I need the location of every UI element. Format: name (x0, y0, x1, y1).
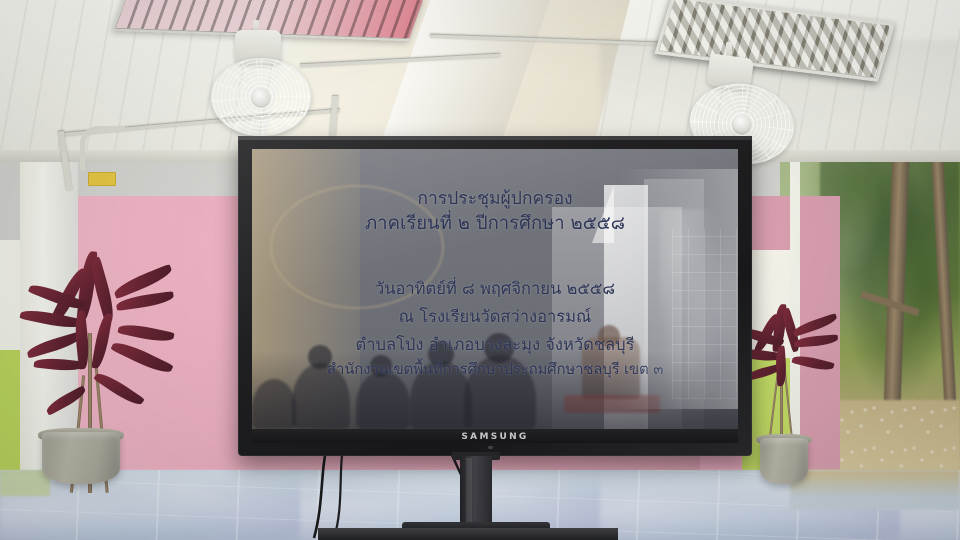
conduit-elbow (80, 126, 125, 171)
plant-pot-left (42, 432, 120, 484)
tv-stand-highlight (466, 458, 472, 526)
plant-pot-right (760, 438, 808, 484)
samsung-logo: SAMSUNG (238, 432, 752, 442)
fan-guard-cage (211, 58, 311, 136)
tv-support-table (318, 528, 618, 540)
electrical-junction-box (88, 172, 116, 186)
tv-ir-receiver (488, 446, 493, 449)
tv-stand-neck (460, 456, 492, 528)
tv-screen[interactable]: การประชุมผู้ปกครอง ภาคเรียนที่ ๒ ปีการศึ… (252, 149, 738, 429)
television[interactable]: การประชุมผู้ปกครอง ภาคเรียนที่ ๒ ปีการศึ… (238, 136, 752, 456)
fan-hub (252, 88, 270, 106)
screen-right-washout (618, 169, 738, 409)
oscillating-fan-left (205, 30, 315, 135)
tv-bezel-highlight (238, 136, 752, 140)
photo-scene: การประชุมผู้ปกครอง ภาคเรียนที่ ๒ ปีการศึ… (0, 0, 960, 540)
